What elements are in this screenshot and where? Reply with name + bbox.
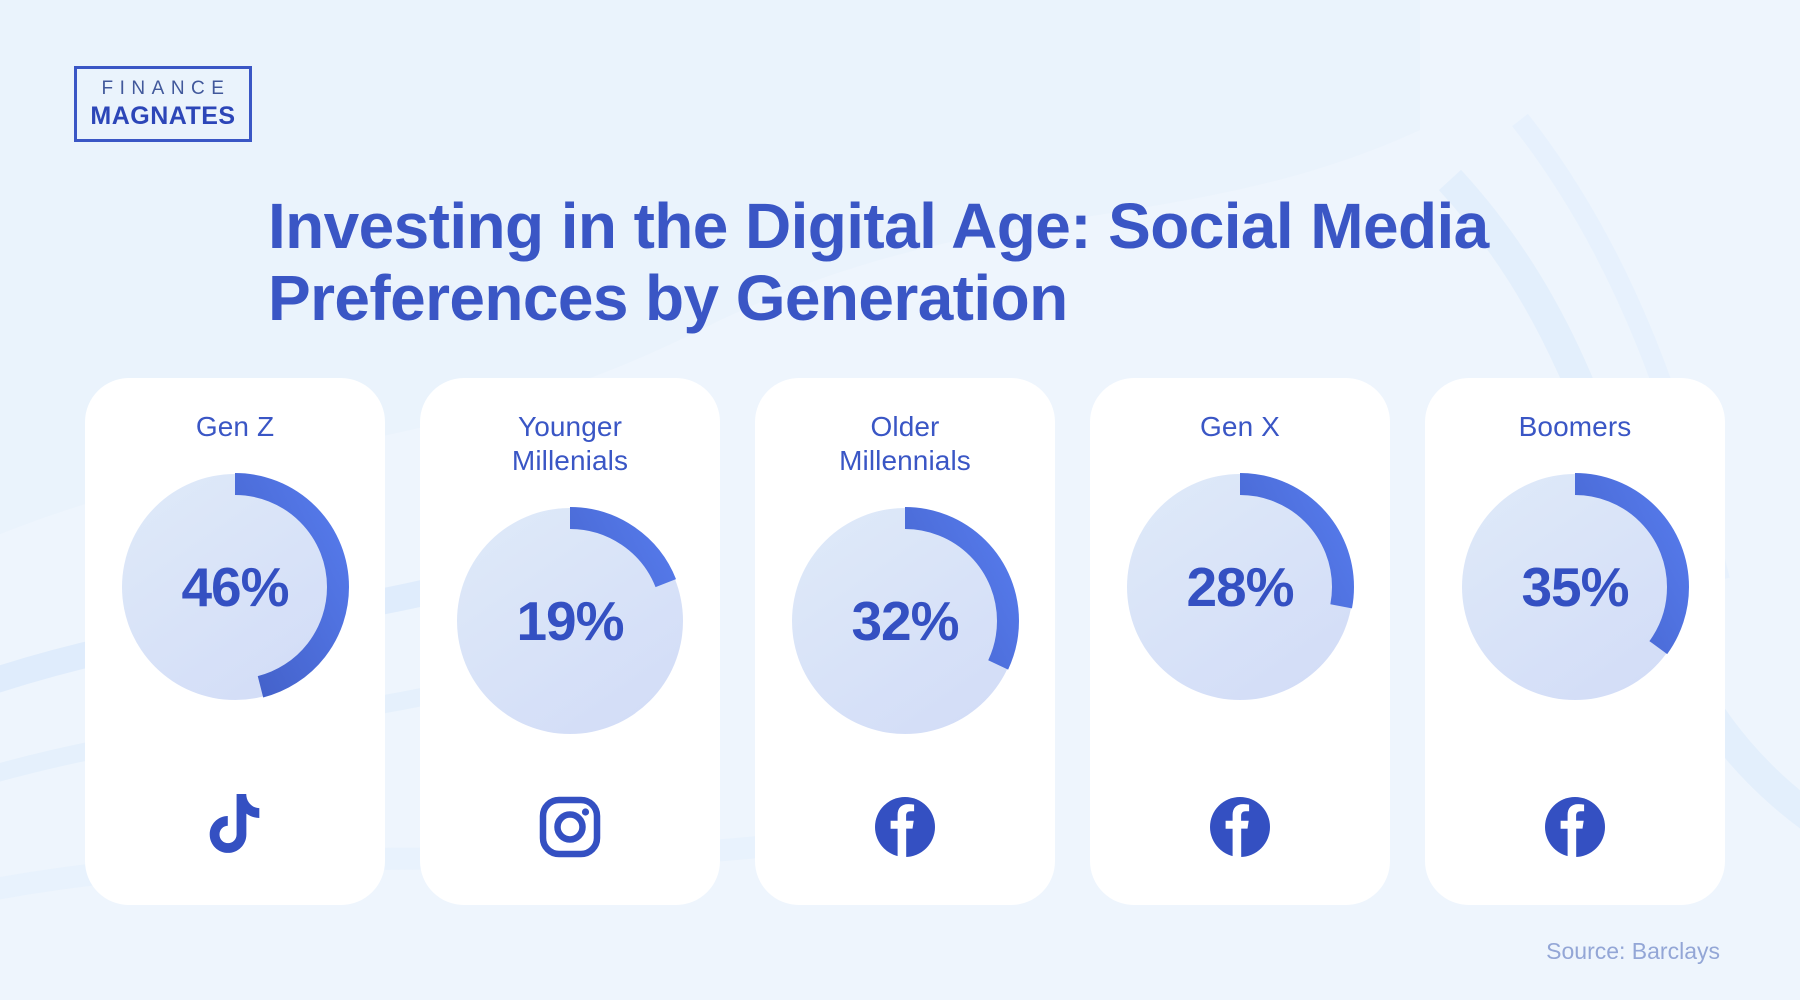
card-title: Gen Z [196,410,274,444]
instagram-icon [420,795,720,859]
facebook-icon [1425,795,1725,859]
donut-chart: 32% [778,494,1032,748]
card-title: Younger Millenials [512,410,628,478]
generation-card: Younger Millenials19% [420,378,720,905]
percentage-value: 32% [778,494,1032,748]
logo-line-finance: FINANCE [96,78,231,100]
donut-chart: 35% [1448,460,1702,714]
card-title: Boomers [1519,410,1632,444]
facebook-icon [1090,795,1390,859]
tiktok-glyph [205,794,265,860]
generation-card: Boomers35% [1425,378,1725,905]
source-attribution: Source: Barclays [1546,938,1720,965]
logo-line-magnates: MAGNATES [90,102,235,131]
generation-card: Older Millennials32% [755,378,1055,905]
percentage-value: 19% [443,494,697,748]
facebook-glyph [1208,795,1272,859]
card-title: Gen X [1200,410,1280,444]
percentage-value: 28% [1113,460,1367,714]
brand-logo: FINANCE MAGNATES [74,66,252,142]
generation-card: Gen X28% [1090,378,1390,905]
donut-chart: 46% [108,460,362,714]
card-title: Older Millennials [839,410,971,478]
page-title: Investing in the Digital Age: Social Med… [268,191,1558,334]
donut-chart: 19% [443,494,697,748]
facebook-icon [755,795,1055,859]
donut-chart: 28% [1113,460,1367,714]
facebook-glyph [873,795,937,859]
percentage-value: 35% [1448,460,1702,714]
facebook-glyph [1543,795,1607,859]
generation-cards-row: Gen Z46%Younger Millenials19%Older Mille… [85,378,1725,905]
percentage-value: 46% [108,460,362,714]
instagram-glyph [538,795,602,859]
generation-card: Gen Z46% [85,378,385,905]
tiktok-icon [85,795,385,859]
